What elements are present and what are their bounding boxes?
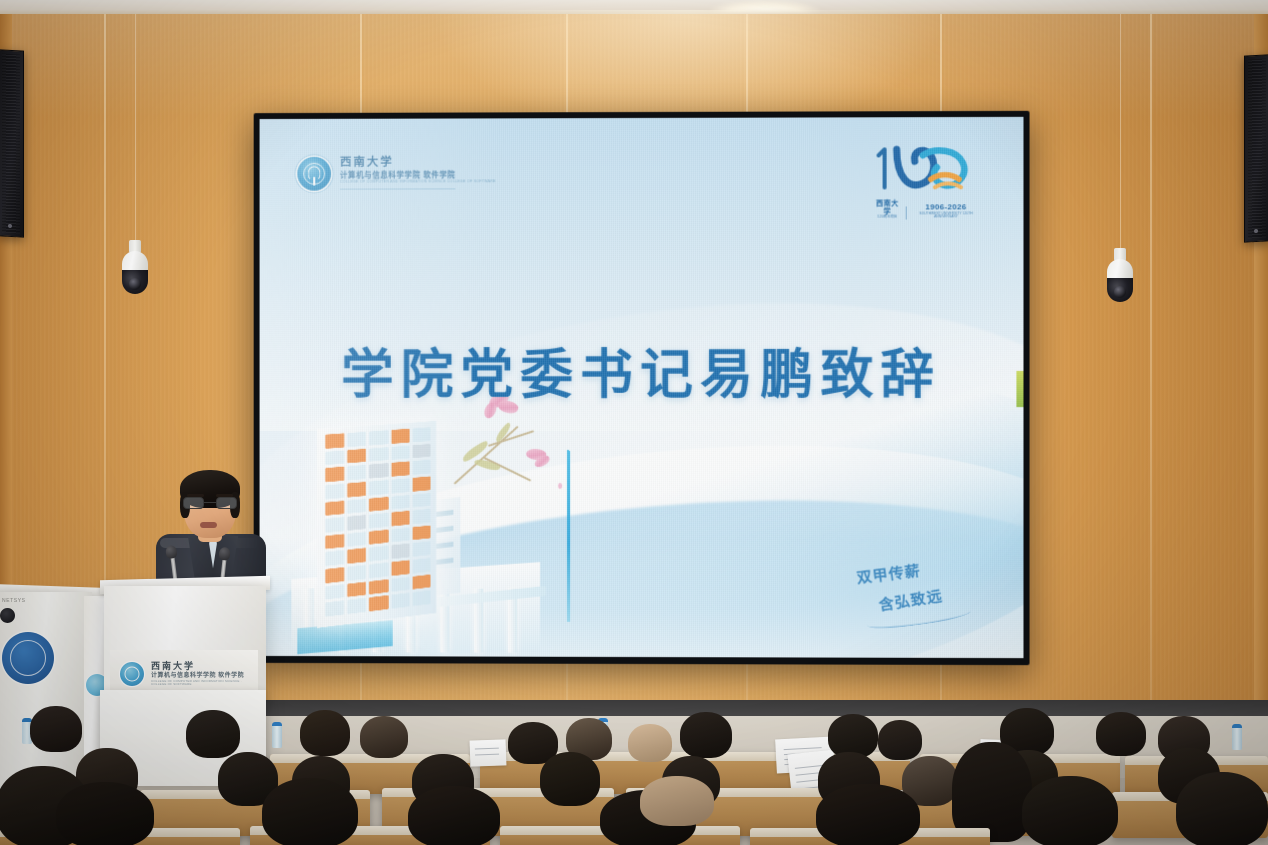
camera-lens-icon [129,278,141,290]
university-seal-icon [2,632,54,684]
building-tower [317,421,436,628]
slide-university-name: 西南大学 [340,158,496,170]
audience-head [408,786,500,845]
podium-plate-text: 西南大学 计算机与信息科学学院 软件学院 COLLEGE OF COMPUTER… [151,662,248,686]
podium-university-name: 西南大学 [151,662,248,671]
led-screen-frame: 西南大学 计算机与信息科学学院 软件学院 COLLEGE OF COMPUTER… [254,111,1030,665]
audience-head [360,716,408,758]
audience-head [878,720,922,760]
audience-head-long-hair [816,784,920,845]
logo-rule [340,188,455,189]
calligraphy-line-1: 双甲传薪 [855,560,921,589]
ptz-camera-right [1105,248,1135,306]
speaker-led-icon [8,224,12,228]
speaker-mouth [200,522,217,528]
slide-edge-green-sliver [1016,371,1023,407]
camera-lens-icon [1114,286,1126,298]
wall-speaker-right [1244,54,1268,242]
camera-cable [1120,14,1121,250]
magnolia-sprig [431,397,571,537]
audience-head [300,710,350,756]
slide-college-name: 计算机与信息科学学院 软件学院 [340,171,496,179]
audience-head [540,752,600,806]
anniversary-years-sub: SOUTHWEST UNIVERSITY 120TH ANNIVERSARY [913,212,979,219]
audience-head [628,724,672,762]
campus-building-illustration [281,397,570,657]
seal-glyph-stem-icon [313,176,315,185]
audience-head [640,776,714,826]
podium-college-name-en: COLLEGE OF COMPUTER AND INFORMATION SCIE… [151,680,248,686]
speaker-led-icon [1254,229,1258,233]
program-sheet[interactable] [470,739,507,766]
lectern-speaker-grille-icon [0,608,15,623]
podium-college-name: 计算机与信息科学学院 软件学院 [151,673,248,679]
anniversary-caption: 西南大学 120周年校庆 1906-2026 SOUTHWEST UNIVERS… [875,200,980,219]
anniversary-emblem: 西南大学 120周年校庆 1906-2026 SOUTHWEST UNIVERS… [875,143,980,219]
university-seal-icon [120,662,144,686]
university-seal-icon [297,157,331,191]
audience-head [186,710,240,758]
wall-seam [1150,14,1152,754]
water-bottle[interactable] [272,722,282,748]
anniversary-university-sub: 120周年校庆 [875,216,900,220]
lecture-hall-scene: 西南大学 计算机与信息科学学院 软件学院 COLLEGE OF COMPUTER… [0,0,1268,845]
audience-head [30,706,82,752]
anniversary-divider [906,206,907,219]
camera-cable [135,14,136,242]
audience-head [1176,772,1268,845]
wall-speaker-left [0,49,24,237]
audience-head [1096,712,1146,756]
audience-head [262,778,358,845]
anniversary-university: 西南大学 120周年校庆 [875,200,900,219]
audience-head [680,712,732,758]
slide-calligraphy: 双甲传薪 含弘致远 [856,563,975,625]
anniversary-years: 1906-2026 SOUTHWEST UNIVERSITY 120TH ANN… [913,204,979,220]
water-bottle[interactable] [1232,724,1242,750]
ptz-camera-left [120,240,150,298]
audience-head [56,782,154,845]
anniversary-logo-icon [875,143,980,203]
slide-college-name-en: COLLEGE OF COMPUTER AND INFORMATION SCIE… [340,181,496,185]
slide-logo-lockup: 西南大学 计算机与信息科学学院 软件学院 COLLEGE OF COMPUTER… [297,156,496,190]
logo-text-block: 西南大学 计算机与信息科学学院 软件学院 COLLEGE OF COMPUTER… [340,158,496,190]
audience-head-long-hair [952,742,1032,842]
lectern-brand-label: NETSYS [2,598,26,604]
building-window-grid [325,427,430,617]
presentation-slide[interactable]: 西南大学 计算机与信息科学学院 软件学院 COLLEGE OF COMPUTER… [260,117,1024,658]
audience-head [1022,776,1118,845]
eyeglasses-icon [183,497,237,509]
